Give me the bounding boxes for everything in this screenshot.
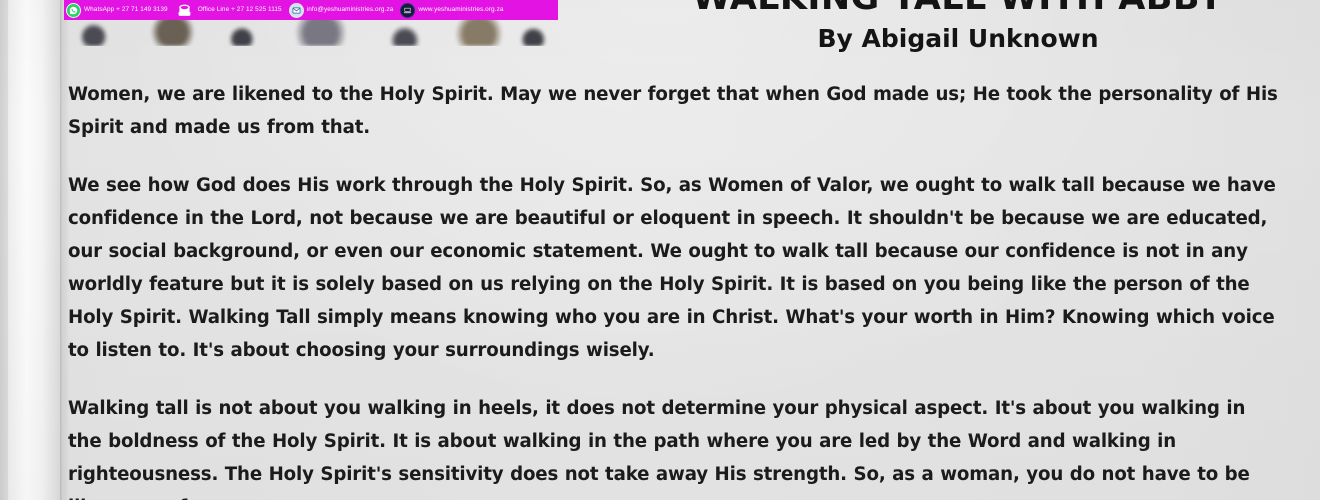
contact-whatsapp[interactable]: WhatsApp + 27 71 149 3139 [66, 3, 175, 18]
document-page: WhatsApp + 27 71 149 3139 Office Line + … [0, 0, 1320, 500]
whatsapp-icon [66, 3, 81, 18]
website-icon [400, 3, 415, 18]
telephone-icon [175, 4, 195, 17]
contact-office-line-label: Office Line + 27 12 525 1115 [198, 7, 282, 13]
page-title: WALKING TALL WITH ABBY [600, 0, 1316, 18]
paragraph: We see how God does His work through the… [68, 169, 1284, 367]
contact-email-label: info@yeshuaministries.org.za [307, 7, 394, 13]
page-spine-edge [0, 0, 8, 500]
title-block: WALKING TALL WITH ABBY By Abigail Unknow… [600, 0, 1316, 54]
article-body: Women, we are likened to the Holy Spirit… [68, 78, 1284, 500]
paragraph: Walking tall is not about you walking in… [68, 392, 1284, 500]
contact-website[interactable]: www.yeshuaministries.org.za [400, 3, 510, 18]
contact-office-line[interactable]: Office Line + 27 12 525 1115 [175, 4, 289, 17]
page-spine-shadow [60, 0, 63, 500]
contact-whatsapp-label: WhatsApp + 27 71 149 3139 [84, 7, 168, 13]
email-icon [289, 3, 304, 18]
page-subtitle: By Abigail Unknown [600, 24, 1316, 54]
contact-website-label: www.yeshuaministries.org.za [418, 7, 503, 13]
paragraph: Women, we are likened to the Holy Spirit… [68, 78, 1284, 144]
contact-email[interactable]: info@yeshuaministries.org.za [289, 3, 401, 18]
contact-bar: WhatsApp + 27 71 149 3139 Office Line + … [64, 0, 558, 20]
masthead-banner: WhatsApp + 27 71 149 3139 Office Line + … [64, 0, 558, 46]
